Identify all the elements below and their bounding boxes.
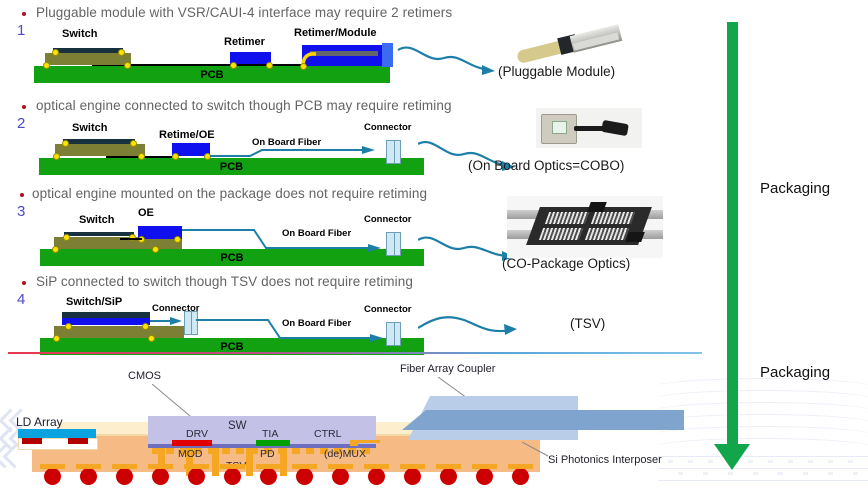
modulator-element: [172, 440, 212, 446]
solder-ball: [174, 236, 181, 243]
row-3-diagram: Switch OE On Board Fiber Connector PCB: [34, 208, 454, 263]
packaging-label-top: Packaging: [760, 180, 830, 197]
bga-pad: [364, 464, 389, 469]
row-number-4: 4: [17, 291, 25, 308]
bga-pad: [292, 464, 317, 469]
section-divider: [8, 352, 702, 354]
optical-link-1: [396, 44, 502, 78]
packaging-trend-arrow-head: [714, 444, 750, 470]
bga-pad: [220, 464, 245, 469]
bga-pad: [328, 464, 353, 469]
label-switch-sip: Switch/SiP: [66, 296, 122, 308]
pluggable-module-photo: [515, 22, 625, 70]
solder-ball: [152, 246, 159, 253]
label-retimer: Retimer: [224, 36, 265, 48]
caption-1: (Pluggable Module): [498, 64, 615, 79]
bga-ball: [44, 468, 61, 485]
solder-ball: [52, 246, 59, 253]
block-tia: TIA: [262, 428, 278, 440]
label-fiber-array-coupler: Fiber Array Coupler: [400, 363, 495, 375]
solder-ball: [63, 234, 70, 241]
ld-pad: [68, 438, 88, 444]
solder-ball: [148, 335, 155, 342]
bullet-dot-2: [22, 105, 26, 109]
bga-ball: [188, 468, 205, 485]
ld-array-die: [18, 429, 96, 438]
bga-ball: [260, 468, 277, 485]
pcb-board-2: PCB: [39, 158, 424, 175]
bga-ball: [332, 468, 349, 485]
sip-to-connector-link: [150, 314, 186, 328]
switch-die-3: [64, 232, 134, 236]
bga-ball: [440, 468, 457, 485]
solder-ball: [53, 335, 60, 342]
bga-ball: [116, 468, 133, 485]
bga-pad: [148, 464, 173, 469]
caption-3: (CO-Package Optics): [502, 256, 630, 271]
bullet-dot-3: [20, 193, 24, 197]
switch-die-4: [62, 312, 150, 318]
bga-pad: [112, 464, 137, 469]
solder-ball: [130, 140, 137, 147]
row-number-3: 3: [17, 203, 25, 220]
bga-ball: [224, 468, 241, 485]
solder-ball: [172, 153, 179, 160]
headline-4: SiP connected to switch though TSV does …: [36, 274, 413, 289]
pcb-board-1: PCB: [34, 66, 390, 83]
row-number-1: 1: [17, 22, 25, 39]
microbump: [292, 448, 300, 454]
on-board-fiber-3: [182, 222, 392, 258]
row-2-diagram: Switch Retime/OE On Board Fiber Connecto…: [34, 120, 454, 175]
bga-pad: [40, 464, 65, 469]
cmos-leader-line: [152, 384, 194, 418]
solder-ball: [62, 140, 69, 147]
demux-waveguide: [356, 440, 380, 443]
bga-pad: [256, 464, 281, 469]
solder-ball: [266, 62, 273, 69]
bga-ball: [368, 468, 385, 485]
switch-die-2: [63, 139, 135, 144]
bga-ball: [476, 468, 493, 485]
solder-ball: [124, 62, 131, 69]
solder-ball: [118, 49, 125, 56]
microbump: [166, 448, 174, 454]
tsv-pillar: [212, 448, 219, 476]
cross-section-diagram: CMOS Fiber Array Coupler LD Array DRV SW…: [0, 360, 710, 492]
photodiode-element: [256, 440, 290, 446]
bga-pad: [508, 464, 533, 469]
label-demux: (de)MUX: [324, 448, 366, 460]
label-cmos: CMOS: [128, 370, 161, 382]
pcb-label-2: PCB: [39, 161, 424, 173]
label-switch-1: Switch: [62, 28, 97, 40]
connector-3: [386, 232, 401, 256]
bga-pad: [184, 464, 209, 469]
label-retime-oe: Retime/OE: [159, 129, 215, 141]
label-oe: OE: [138, 207, 154, 219]
connector-2: [386, 140, 401, 164]
optical-link-4: [418, 310, 528, 342]
solder-ball: [52, 49, 59, 56]
bga-pad: [436, 464, 461, 469]
block-sw: SW: [228, 420, 247, 432]
co-package-optics-photo: [507, 196, 663, 258]
solder-ball: [230, 62, 237, 69]
bga-ball: [296, 468, 313, 485]
label-switch-3: Switch: [79, 214, 114, 226]
pcb-trace-3: [120, 238, 142, 240]
connector-4b: [386, 322, 401, 346]
slide-canvas: Pluggable module with VSR/CAUI-4 interfa…: [0, 0, 868, 492]
packaging-label-bottom: Packaging: [760, 364, 830, 381]
solder-ball: [65, 323, 72, 330]
switch-die-1: [53, 48, 123, 53]
bga-pad: [400, 464, 425, 469]
tsv-pillar: [280, 448, 287, 476]
solder-ball: [138, 153, 145, 160]
bga-ball: [152, 468, 169, 485]
microbump: [306, 448, 314, 454]
microbump: [222, 448, 230, 454]
sip-die: [62, 318, 150, 325]
label-pd: PD: [260, 448, 275, 460]
retimer-module-plug: [382, 43, 393, 67]
bga-pad: [472, 464, 497, 469]
cobo-photo: [536, 108, 642, 148]
tsv-pillar: [246, 448, 253, 476]
pcb-label-1: PCB: [34, 69, 390, 81]
solder-ball: [142, 323, 149, 330]
bga-ball: [512, 468, 529, 485]
headline-3: optical engine mounted on the package do…: [32, 186, 427, 201]
bga-ball: [404, 468, 421, 485]
on-board-fiber-4: [196, 310, 392, 348]
label-si-photonics-interposer: Si Photonics Interposer: [548, 454, 662, 466]
label-retimer-module: Retimer/Module: [294, 27, 377, 39]
packaging-trend-arrow-shaft: [727, 22, 738, 446]
bga-pad: [76, 464, 101, 469]
bullet-dot-1: [22, 12, 26, 16]
headline-2: optical engine connected to switch thoug…: [36, 98, 452, 113]
fiber-array-coupler-body: [398, 392, 688, 444]
label-ld-array: LD Array: [16, 415, 63, 429]
caption-2: (On Board Optics=COBO): [468, 158, 624, 173]
interposer-leader-line: [520, 442, 554, 462]
row-4-diagram: Switch/SiP Connector On Board Fiber Conn…: [34, 296, 454, 354]
ld-pad: [22, 438, 42, 444]
bullet-dot-4: [22, 281, 26, 285]
solder-ball: [300, 63, 307, 70]
solder-ball: [53, 153, 60, 160]
caption-4: (TSV): [570, 316, 605, 331]
block-ctrl: CTRL: [314, 428, 341, 440]
block-drv: DRV: [186, 428, 208, 440]
bga-ball: [80, 468, 97, 485]
microbump: [236, 448, 244, 454]
solder-ball: [43, 62, 50, 69]
headline-1: Pluggable module with VSR/CAUI-4 interfa…: [36, 5, 452, 20]
on-board-fiber-2: [210, 138, 390, 160]
label-mod: MOD: [178, 448, 203, 460]
label-connector-2: Connector: [364, 122, 412, 133]
retimer-die: [230, 52, 271, 64]
label-switch-2: Switch: [72, 122, 107, 134]
row-number-2: 2: [17, 115, 25, 132]
row-1-diagram: Switch Retimer Retimer/Module PCB: [34, 28, 404, 83]
